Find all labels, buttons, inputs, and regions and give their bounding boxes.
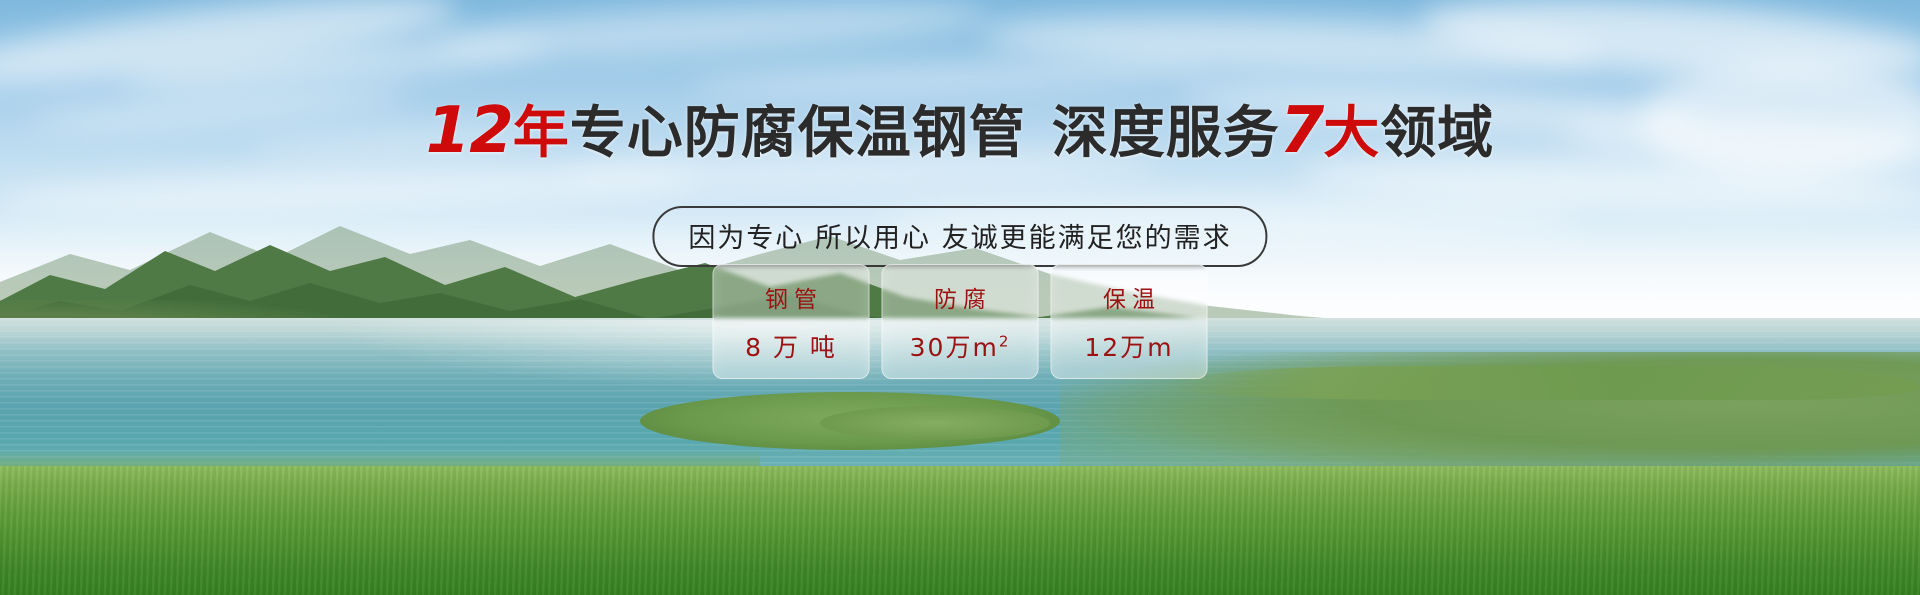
right-grass-strip xyxy=(1160,366,1920,400)
headline-main-text: 专心防腐保温钢管 xyxy=(570,101,1026,166)
stat-card-anticorrosion[interactable]: 防腐 30万m2 xyxy=(882,264,1039,379)
grass-island-small xyxy=(820,406,1050,440)
stat-card-group: 钢管 8 万 吨 防腐 30万m2 保温 12万m xyxy=(713,264,1208,379)
stat-card-value-text: 8 万 吨 xyxy=(745,333,837,362)
slogan-text: 因为专心 所以用心 友诚更能满足您的需求 xyxy=(688,223,1231,254)
stat-card-title: 保温 xyxy=(1097,280,1161,314)
foreground-grass xyxy=(0,466,1920,595)
stat-card-value: 12万m xyxy=(1084,328,1173,364)
stat-card-value-text: 12万m xyxy=(1084,333,1173,362)
stat-card-title: 钢管 xyxy=(759,280,823,314)
headline-fields-unit: 大 xyxy=(1323,101,1380,166)
headline-service-text: 深度服务 xyxy=(1052,101,1280,166)
stat-card-steel-pipe[interactable]: 钢管 8 万 吨 xyxy=(713,264,870,379)
hero-banner: 12年专心防腐保温钢管深度服务7大领域 因为专心 所以用心 友诚更能满足您的需求… xyxy=(0,0,1920,595)
stat-card-value-text: 30万m xyxy=(910,333,999,362)
headline-years-number: 12 xyxy=(426,94,513,168)
stat-card-value: 30万m2 xyxy=(910,328,1011,364)
stat-card-value: 8 万 吨 xyxy=(745,328,837,364)
headline-fields-text: 领域 xyxy=(1380,101,1494,166)
stat-card-insulation[interactable]: 保温 12万m xyxy=(1051,264,1208,379)
slogan-pill: 因为专心 所以用心 友诚更能满足您的需求 xyxy=(652,206,1267,267)
page-title: 12年专心防腐保温钢管深度服务7大领域 xyxy=(0,88,1920,169)
headline-years-unit: 年 xyxy=(513,101,570,166)
stat-card-value-superscript: 2 xyxy=(999,332,1011,350)
stat-card-title: 防腐 xyxy=(928,280,992,314)
headline-fields-number: 7 xyxy=(1280,94,1324,168)
